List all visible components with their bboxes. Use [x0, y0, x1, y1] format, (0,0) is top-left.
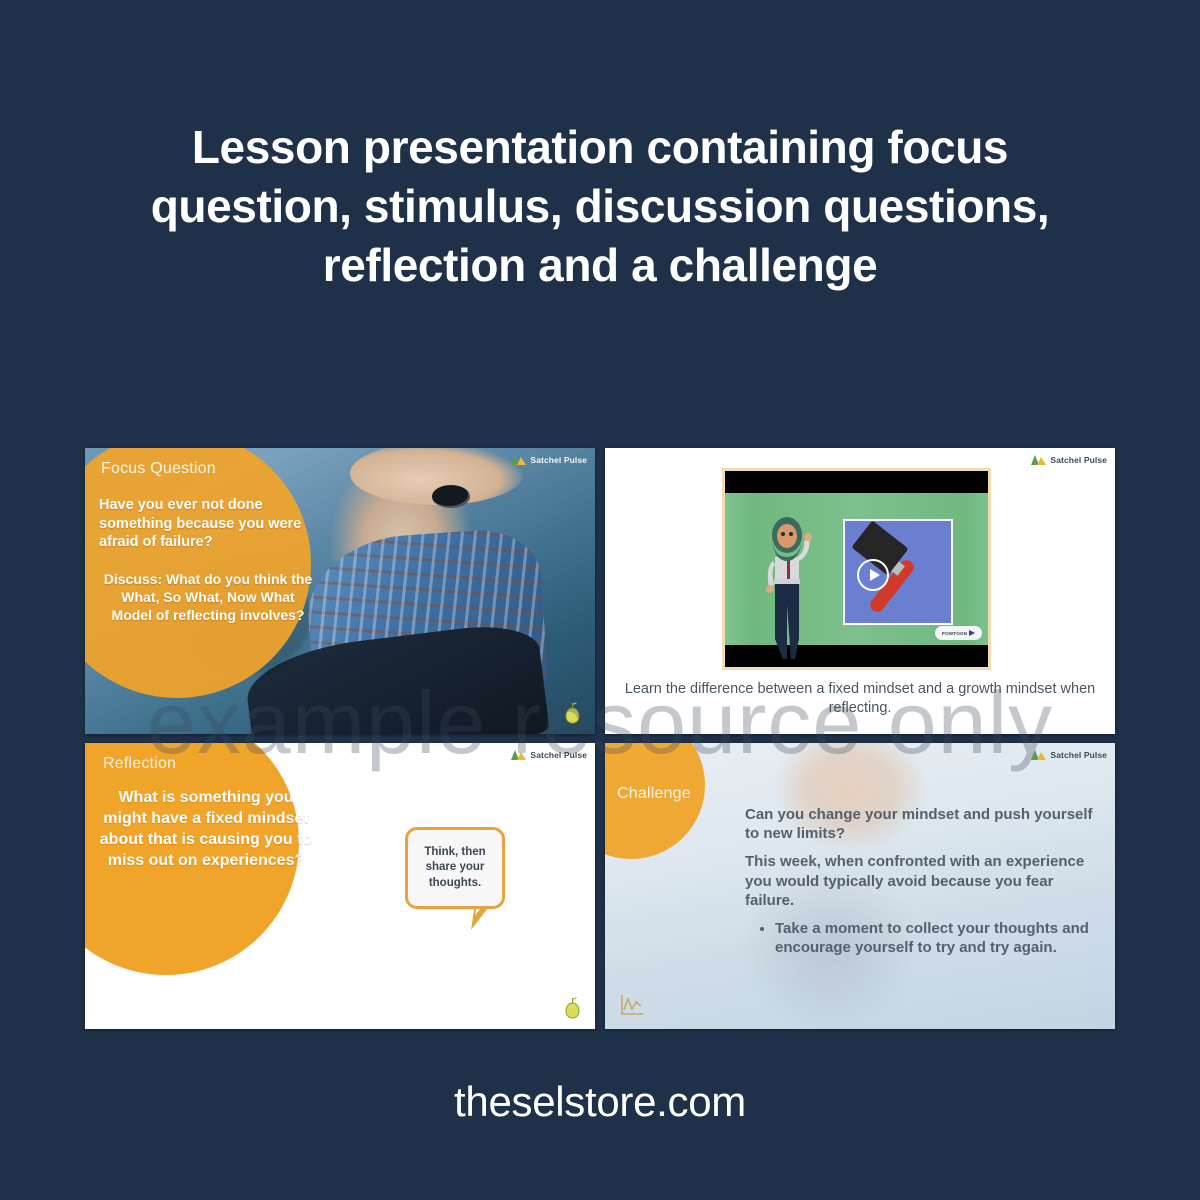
pear-icon [564, 701, 581, 724]
satchel-pulse-logo: Satchel Pulse [1031, 455, 1107, 465]
challenge-paragraph-2: This week, when confronted with an exper… [745, 852, 1097, 910]
slide-grid: Focus Question Have you ever not done so… [85, 448, 1114, 1034]
slide-kicker: Focus Question [101, 460, 216, 478]
satchel-pulse-logo: Satchel Pulse [511, 750, 587, 760]
paintbrush-illustration [843, 519, 953, 625]
mountains-icon [1031, 455, 1046, 465]
presenter-character [761, 509, 813, 661]
satchel-pulse-logo: Satchel Pulse [1031, 750, 1107, 760]
slide-focus-question[interactable]: Focus Question Have you ever not done so… [85, 448, 595, 734]
mountains-icon [1031, 750, 1046, 760]
logo-label: Satchel Pulse [1050, 750, 1107, 760]
logo-label: Satchel Pulse [530, 455, 587, 465]
line-chart-icon [619, 993, 645, 1017]
mountains-icon [511, 750, 526, 760]
focus-discuss-text: Discuss: What do you think the What, So … [101, 570, 315, 625]
slide-stimulus-video[interactable]: POWTOON Learn the difference between a f… [605, 448, 1115, 734]
slide-reflection[interactable]: Reflection What is something you might h… [85, 743, 595, 1029]
powtoon-label: POWTOON [942, 631, 968, 636]
reflection-question-text: What is something you might have a fixed… [97, 787, 315, 871]
satchel-pulse-logo: Satchel Pulse [511, 455, 587, 465]
speech-bubble-text: Think, then share your thoughts. [408, 845, 502, 891]
challenge-bullet-list: Take a moment to collect your thoughts a… [767, 919, 1097, 957]
slide-challenge[interactable]: Challenge Can you change your mindset an… [605, 743, 1115, 1029]
logo-label: Satchel Pulse [1050, 455, 1107, 465]
slide-kicker: Challenge [617, 785, 691, 803]
footer-url: theselstore.com [0, 1078, 1200, 1126]
logo-label: Satchel Pulse [530, 750, 587, 760]
focus-question-text: Have you ever not done something because… [99, 496, 317, 552]
video-caption: Learn the difference between a fixed min… [611, 680, 1109, 718]
mountains-icon [511, 455, 526, 465]
challenge-paragraph-1: Can you change your mindset and push you… [745, 805, 1097, 843]
powtoon-arrow-icon [969, 630, 975, 636]
speech-bubble: Think, then share your thoughts. [405, 827, 505, 909]
video-frame[interactable]: POWTOON [722, 468, 991, 670]
challenge-bullet-1: Take a moment to collect your thoughts a… [775, 919, 1097, 957]
photo-watch [432, 485, 470, 508]
play-icon[interactable] [857, 559, 889, 591]
slide-kicker: Reflection [103, 755, 176, 773]
challenge-body: Can you change your mindset and push you… [745, 805, 1097, 957]
page-title: Lesson presentation containing focus que… [0, 118, 1200, 295]
pear-icon [564, 996, 581, 1019]
video-stage: POWTOON [725, 493, 988, 645]
powtoon-badge: POWTOON [935, 626, 982, 640]
